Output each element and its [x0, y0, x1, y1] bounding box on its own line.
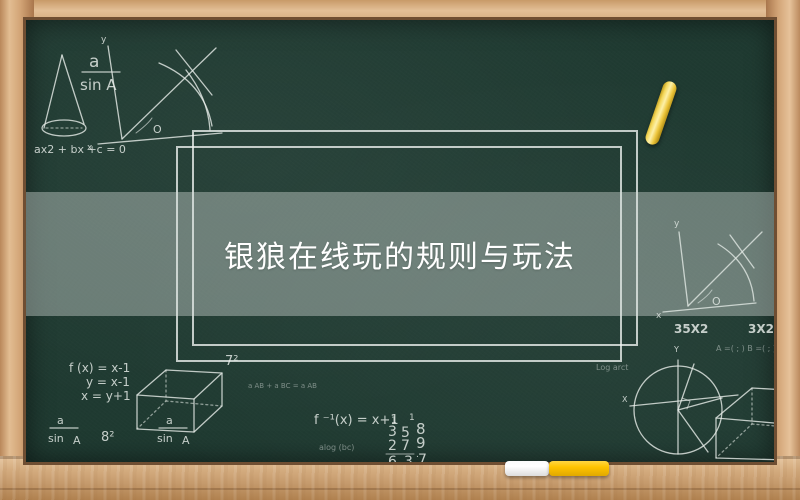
label-8-squared: 8² [101, 430, 114, 445]
screenshot-stage: a sin A y x O ax2 + bx +c = 0 [0, 0, 800, 500]
label-35x2: 35X2 [674, 322, 708, 336]
fraction-a-sin-a-bottom-left: a sin A [48, 414, 81, 447]
inverse-function: f ⁻¹(x) = x+1 [314, 413, 399, 428]
cube-wireframe-center [137, 370, 222, 432]
svg-text:1: 1 [409, 413, 415, 423]
svg-text:2: 2 [388, 438, 397, 454]
chalkboard-surface: a sin A y x O ax2 + bx +c = 0 [26, 20, 774, 462]
digit-columns: 1 1 3 5 8 2 7 9 . 6 3 7 [386, 413, 427, 462]
svg-text:X: X [622, 395, 628, 404]
svg-text:6: 6 [388, 454, 397, 462]
svg-text:a: a [57, 414, 64, 427]
svg-text:sin A: sin A [80, 76, 117, 94]
svg-text:7: 7 [418, 452, 427, 462]
svg-text:7: 7 [401, 438, 410, 454]
cube-wireframe-right [716, 388, 774, 460]
alog-label: alog (bc) [319, 443, 354, 452]
quadratic-equation-top: ax2 + bx +c = 0 [34, 143, 126, 156]
svg-text:y: y [101, 35, 107, 45]
svg-text:f (x) = x-1: f (x) = x-1 [69, 361, 130, 375]
cone-diagram [42, 55, 86, 136]
svg-text:3: 3 [404, 454, 413, 462]
svg-text:A: A [73, 434, 81, 447]
white-chalk-piece-icon [505, 461, 549, 476]
page-title: 银狼在线玩的规则与玩法 [224, 232, 576, 276]
log-label-right: Log arct [596, 363, 628, 372]
svg-text:a: a [166, 414, 173, 427]
title-overlay-band: 银狼在线玩的规则与玩法 [26, 192, 774, 316]
label-3x2: 3X2 [748, 322, 774, 336]
svg-text:Y: Y [673, 345, 679, 354]
svg-text:x = y+1: x = y+1 [81, 389, 131, 403]
function-equations-bottom: f (x) = x-1 y = x-1 x = y+1 [69, 361, 131, 403]
svg-text:sin: sin [48, 432, 64, 445]
segment-equation: a AB + a BC = a AB [248, 382, 317, 390]
matrix-row-right: A =( ; ) B =( ; ) 1 =( ; ) [716, 344, 774, 353]
svg-text:O: O [153, 123, 162, 136]
svg-text:a: a [89, 52, 99, 72]
svg-text:sin: sin [157, 432, 173, 445]
circle-axes-diagram: Y X [622, 345, 738, 454]
yellow-chalk-piece-icon [549, 461, 609, 476]
ledge-groove-line [0, 488, 800, 490]
svg-text:A: A [182, 434, 190, 447]
svg-text:y = x-1: y = x-1 [86, 375, 130, 389]
wooden-ledge-bottom [0, 456, 800, 500]
